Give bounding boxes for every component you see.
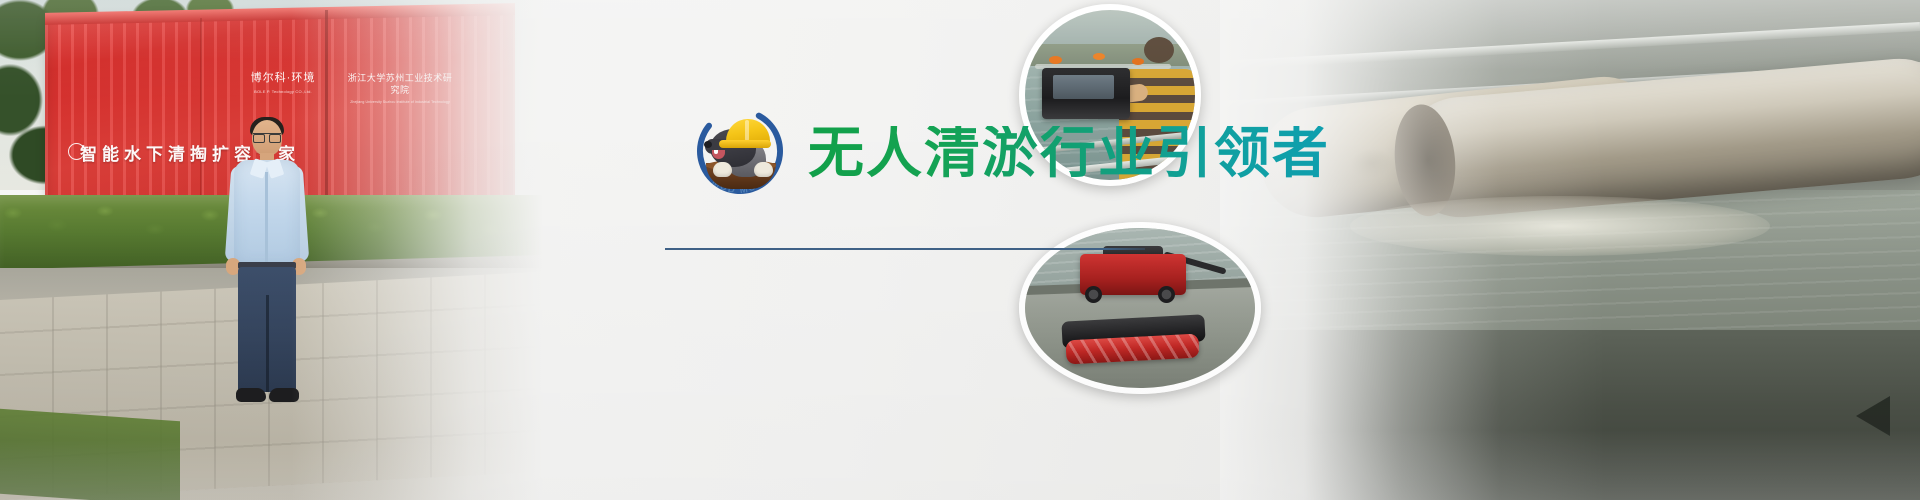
hard-hat-rib: [745, 120, 749, 141]
hard-hat-brim: [719, 140, 771, 148]
headline-divider: [665, 248, 1145, 250]
mud-mole-logo: MUD MOLE: [690, 101, 790, 201]
mole-tooth: [714, 150, 718, 154]
hero-banner: 博尔科·环境 BOLE P. Technology CO.,Ltd. 浙江大学苏…: [0, 0, 1920, 500]
center-content: MUD MOLE 无人清淤行业引领者: [0, 0, 1920, 500]
mole-nose: [704, 141, 712, 148]
mole-right-paw: [754, 162, 773, 177]
mole-left-paw: [713, 162, 732, 177]
banner-headline: 无人清淤行业引领者: [808, 126, 1330, 182]
mole-mascot-icon: [708, 117, 772, 187]
